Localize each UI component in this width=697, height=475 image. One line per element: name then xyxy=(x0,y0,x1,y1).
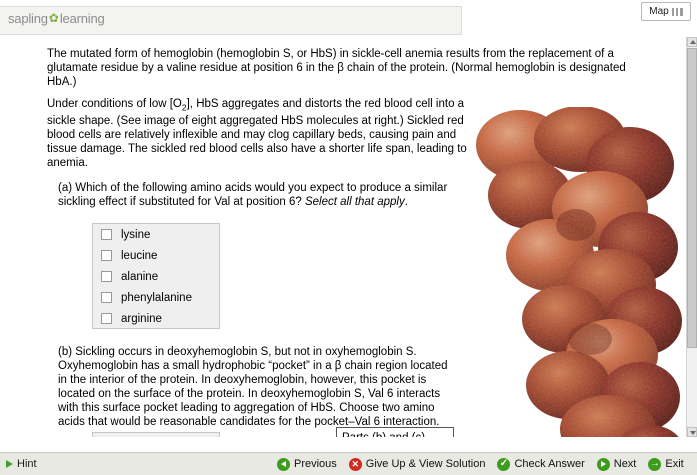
option-row[interactable]: lysine xyxy=(93,433,219,437)
check-answer-button[interactable]: Check Answer xyxy=(497,458,584,471)
previous-button[interactable]: Previous xyxy=(277,458,337,471)
intro-paragraph-2: Under conditions of low [O2], HbS aggreg… xyxy=(47,97,467,170)
option-row[interactable]: leucine xyxy=(93,245,219,266)
option-label: lysine xyxy=(121,229,150,241)
answer-options-a: lysine leucine alanine phenylalanine arg… xyxy=(92,223,220,329)
option-label: alanine xyxy=(121,271,158,283)
map-icon xyxy=(672,8,683,16)
scrollbar-thumb[interactable] xyxy=(687,48,697,348)
question-content: The mutated form of hemoglobin (hemoglob… xyxy=(0,37,687,437)
play-triangle-icon xyxy=(6,460,13,468)
answer-options-b: lysine xyxy=(92,432,220,437)
vertical-scrollbar[interactable] xyxy=(686,37,697,437)
option-row[interactable]: phenylalanine xyxy=(93,287,219,308)
exit-button[interactable]: Exit xyxy=(648,458,683,471)
navigation-buttons: Previous Give Up & View Solution Check A… xyxy=(277,458,684,471)
checkbox-lysine[interactable] xyxy=(101,229,112,240)
option-label: phenylalanine xyxy=(121,292,192,304)
continue-below-callout: Parts (b) and (c) continue below... xyxy=(336,427,454,437)
option-row[interactable]: arginine xyxy=(93,308,219,329)
protein-texture xyxy=(476,107,682,437)
question-a-emphasis: Select all that apply xyxy=(305,196,405,208)
top-bar: sapling ✿ learning Map xyxy=(0,0,697,37)
give-up-button[interactable]: Give Up & View Solution xyxy=(349,458,486,471)
intro-paragraph-1: The mutated form of hemoglobin (hemoglob… xyxy=(47,47,647,89)
sapling-learning-app: sapling ✿ learning Map The mutated form … xyxy=(0,0,697,475)
cross-icon xyxy=(349,458,362,471)
next-arrow-icon xyxy=(597,458,610,471)
next-button[interactable]: Next xyxy=(597,458,637,471)
logo-text-learning: learning xyxy=(60,11,105,26)
give-up-label: Give Up & View Solution xyxy=(366,458,486,470)
map-button-label: Map xyxy=(649,6,668,17)
previous-label: Previous xyxy=(294,458,337,470)
checkbox-phenylalanine[interactable] xyxy=(101,292,112,303)
leaf-icon: ✿ xyxy=(49,12,59,24)
sapling-logo: sapling ✿ learning xyxy=(8,11,105,26)
question-a-period: . xyxy=(405,196,408,208)
checkbox-arginine[interactable] xyxy=(101,313,112,324)
logo-text-sapling: sapling xyxy=(8,11,48,26)
logo-banner: sapling ✿ learning xyxy=(0,6,462,35)
option-row[interactable]: alanine xyxy=(93,266,219,287)
checkbox-leucine[interactable] xyxy=(101,250,112,261)
check-icon xyxy=(497,458,510,471)
exit-label: Exit xyxy=(665,458,683,470)
question-b-prompt: (b) Sickling occurs in deoxyhemoglobin S… xyxy=(58,345,458,429)
exit-arrow-icon xyxy=(648,458,661,471)
option-row[interactable]: lysine xyxy=(93,224,219,245)
hint-button[interactable]: Hint xyxy=(6,458,37,470)
check-answer-label: Check Answer xyxy=(514,458,584,470)
previous-arrow-icon xyxy=(277,458,290,471)
next-label: Next xyxy=(614,458,637,470)
hbs-protein-figure xyxy=(472,107,682,437)
intro-paragraph-2-text: Under conditions of low [O2], HbS aggreg… xyxy=(47,98,467,169)
question-a-prompt: (a) Which of the following amino acids w… xyxy=(58,181,458,209)
scroll-up-arrow-icon[interactable] xyxy=(687,37,697,47)
protein-svg xyxy=(472,107,682,437)
scroll-down-arrow-icon[interactable] xyxy=(687,427,697,437)
bottom-toolbar: Hint Previous Give Up & View Solution Ch… xyxy=(0,452,697,475)
checkbox-alanine[interactable] xyxy=(101,271,112,282)
option-label: leucine xyxy=(121,250,157,262)
hint-label: Hint xyxy=(17,458,37,470)
map-button[interactable]: Map xyxy=(641,2,691,21)
option-label: arginine xyxy=(121,313,162,325)
